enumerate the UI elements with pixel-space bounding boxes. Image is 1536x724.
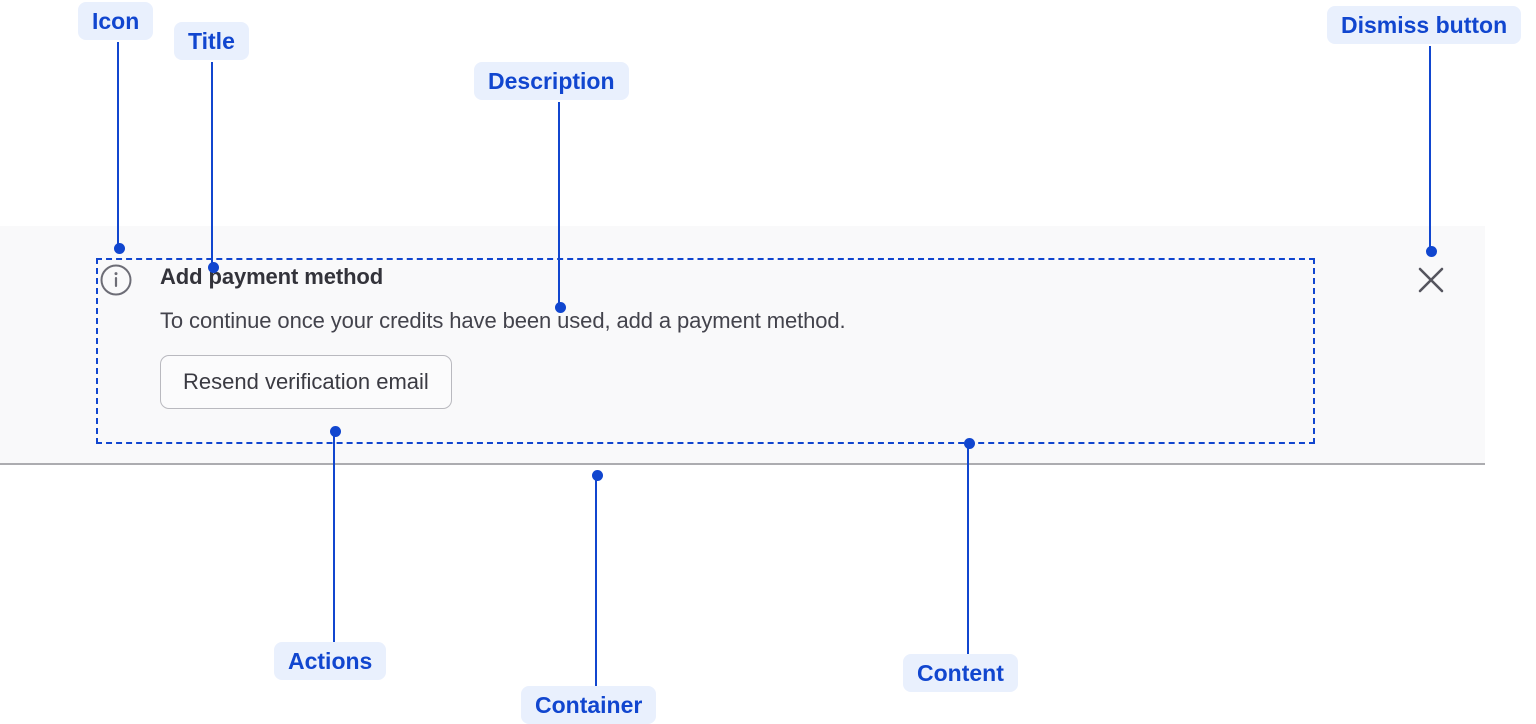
notification-banner-content: Add payment method To continue once your… xyxy=(160,262,1300,409)
annotation-leader-dismiss-button xyxy=(1429,46,1431,251)
annotation-dot-description xyxy=(555,302,566,313)
annotation-label-container: Container xyxy=(521,686,656,724)
banner-title: Add payment method xyxy=(160,262,1300,292)
annotation-label-title: Title xyxy=(174,22,249,60)
annotation-label-actions: Actions xyxy=(274,642,386,680)
annotation-label-dismiss-button: Dismiss button xyxy=(1327,6,1521,44)
dismiss-button[interactable] xyxy=(1414,263,1448,297)
annotation-label-icon: Icon xyxy=(78,2,153,40)
annotation-leader-icon xyxy=(117,42,119,248)
resend-verification-email-button[interactable]: Resend verification email xyxy=(160,355,452,409)
info-circle-icon xyxy=(100,264,132,296)
annotation-leader-actions xyxy=(333,436,335,642)
annotation-dot-content xyxy=(964,438,975,449)
banner-actions: Resend verification email xyxy=(160,355,1300,409)
annotation-leader-container xyxy=(595,480,597,686)
annotation-dot-title xyxy=(208,262,219,273)
annotation-leader-description xyxy=(558,102,560,307)
annotation-label-content: Content xyxy=(903,654,1018,692)
annotation-dot-icon xyxy=(114,243,125,254)
banner-description: To continue once your credits have been … xyxy=(160,306,1300,336)
annotation-leader-content xyxy=(967,448,969,654)
annotation-leader-title xyxy=(211,62,213,267)
close-icon xyxy=(1414,263,1448,297)
annotation-dot-container xyxy=(592,470,603,481)
annotation-dot-actions xyxy=(330,426,341,437)
annotation-label-description: Description xyxy=(474,62,629,100)
annotated-banner-diagram: Add payment method To continue once your… xyxy=(0,0,1536,724)
annotation-dot-dismiss-button xyxy=(1426,246,1437,257)
